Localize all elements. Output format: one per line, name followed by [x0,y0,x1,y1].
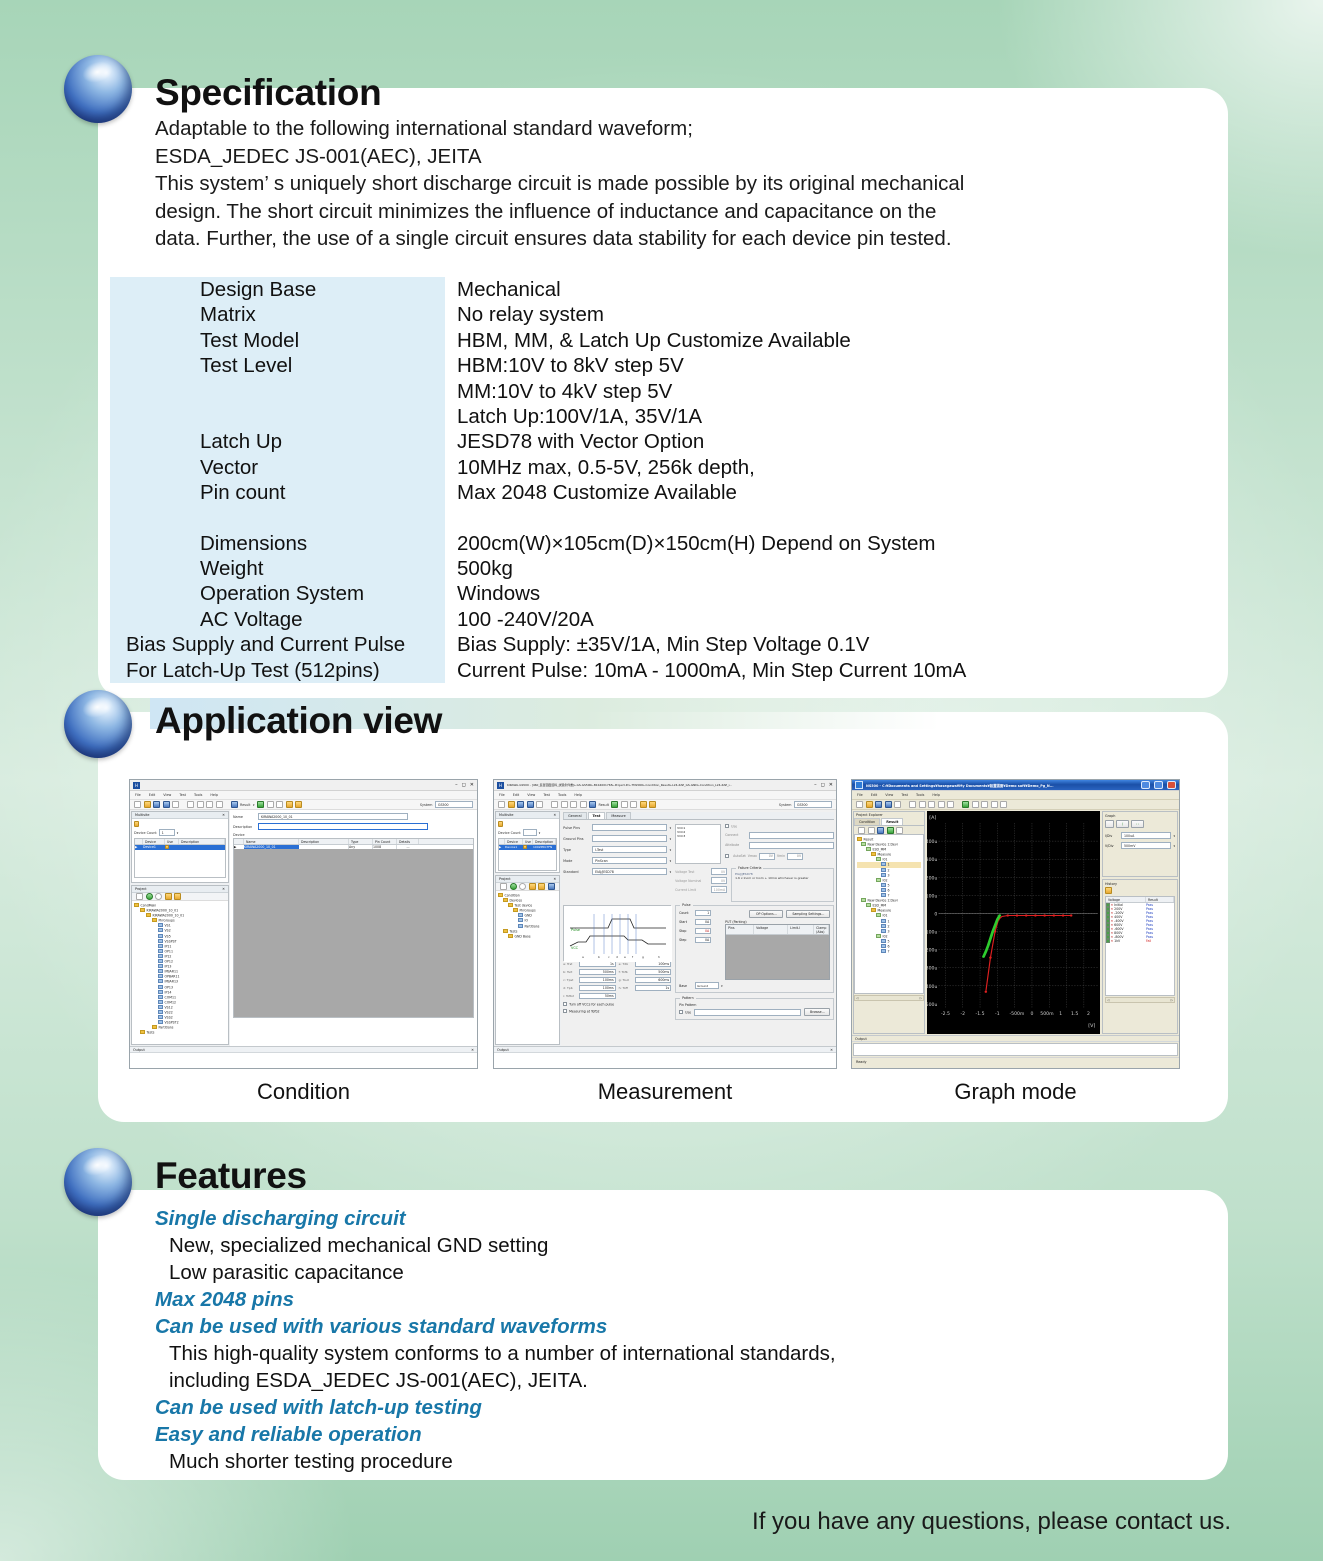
graph-plot[interactable]: [A] 400u300u200u 100u0-100u -200u-300u-4… [927,811,1100,1034]
menu-file[interactable]: File [857,793,863,797]
field-input[interactable]: I-Test [592,846,666,853]
feature-detail: including ESDA_JEDEC JS-001(AEC), JEITA. [155,1367,1115,1394]
grid-toggle-icon[interactable] [1105,820,1114,828]
measurement-menubar[interactable]: File Edit View Test Tools Help [494,791,836,800]
pin-icon[interactable] [498,821,503,827]
explorer-hscrollbar[interactable]: ◁▷ [854,995,924,1001]
time-field-input[interactable]: 600ms [635,977,672,983]
save-all-icon[interactable] [885,801,892,808]
view1-icon[interactable] [991,801,998,808]
project-pane: Project ✕ ConditionDevicesTest devicePin… [495,875,560,1045]
device-grid-row[interactable]: ▶ KIRAWA2000_10_01 Any 1008 ... [234,845,473,849]
pulse-field[interactable]: Count1 [679,910,721,916]
menu-tools[interactable]: Tools [558,793,566,797]
device-row[interactable]: ▶ Device1 [135,845,225,850]
window-controls[interactable]: – ◻ ✕ [814,783,833,788]
toolbar-result-label[interactable]: Result [599,803,609,807]
condition-toolbar[interactable]: Result ▾ System GS500 [130,800,477,810]
footer-contact-note: If you have any questions, please contac… [752,1508,1231,1536]
output-header: Output ✕ [130,1047,477,1053]
base-select[interactable]: Ground [695,982,719,989]
add-icon[interactable] [510,883,517,890]
tab-measure[interactable]: Measure [606,812,630,819]
expand-icon[interactable] [136,893,143,900]
specification-intro: Adaptable to the following international… [155,115,1155,253]
failure-criteria-label: Failure Criteria [736,866,763,870]
spec-row: Design BaseMechanical [110,277,1200,302]
menu-edit[interactable]: Edit [513,793,520,797]
svg-text:100u: 100u [927,894,938,900]
device-row[interactable]: ▶ Device1 1002PIN-TFN [499,845,556,850]
measurement-window[interactable]: H KIRAWA-GS500 - [460_装置図面資料_試験条件書]←GS-G… [493,779,837,1069]
time-field-input[interactable]: 100ms [579,985,616,991]
intro-line: This system’ s uniquely short discharge … [155,170,1155,198]
menu-tools[interactable]: Tools [194,793,202,797]
add-icon[interactable] [146,893,153,900]
close-icon[interactable]: ✕ [471,1048,474,1052]
pin-pattern-input[interactable] [694,1009,801,1016]
idiv-label: I/Div [1105,834,1119,838]
menu-tools[interactable]: Tools [916,793,924,797]
time-field-input[interactable]: 100ms [579,977,616,983]
time-field-label: g: Tout [619,978,634,982]
spec-row-label: Latch Up [110,429,445,454]
put-grid-header: Pins Voltage Limit-I Clamp (Abs) [726,925,829,935]
time-field[interactable]: i: Tofb250ms [563,993,616,999]
measurement-form[interactable]: Pulse Pins▾Ground Pins▾TypeI-Test▾ModePi… [563,824,671,902]
time-field-label: h: Toff [619,986,634,990]
close-icon[interactable]: ✕ [222,887,225,891]
refresh-icon[interactable] [887,827,894,834]
save-all-icon[interactable] [163,801,170,808]
new-icon[interactable] [856,801,863,808]
close-x-icon[interactable] [947,801,954,808]
search-icon[interactable] [231,801,238,808]
svg-text:a: a [582,955,584,959]
time-field[interactable]: d: Tpb100ms [563,985,616,991]
stop-icon[interactable] [276,801,283,808]
graph-statusbar: Ready [852,1057,1179,1066]
history-pane-title: History [1105,882,1175,886]
system-label: System [420,803,433,807]
page-title-features: Features [155,1155,307,1197]
time-field[interactable]: b: Tsrt500ms [563,969,616,975]
menu-test[interactable]: Test [901,793,908,797]
vdiv-select[interactable]: 500mV [1121,842,1171,849]
measurement-tabs[interactable]: General Test Measure [563,812,834,820]
find-icon[interactable] [548,883,555,890]
close-icon[interactable]: ✕ [830,1048,833,1052]
tree-item[interactable]: 7 [857,949,921,954]
tab-result[interactable]: Result [881,818,903,825]
svg-text:[A]: [A] [929,815,936,821]
minimize-icon[interactable]: – [814,783,817,788]
description-input[interactable] [258,823,428,830]
spec-row-label: Matrix [110,302,445,327]
grid-icon[interactable] [295,801,302,808]
form-row[interactable]: Ground Pins▾ [563,835,671,842]
paste-icon[interactable] [570,801,577,808]
close-icon[interactable]: ✕ [222,813,225,817]
svg-text:500m: 500m [1040,1011,1053,1017]
output-header: Output ✕ [494,1047,836,1053]
spec-row-label: AC Voltage [110,607,445,632]
measurement-toolbar[interactable]: Result System GS500 [494,800,836,810]
vmin-label: Vmin [777,854,785,858]
grid-icon[interactable] [649,801,656,808]
voltage-nominal-input[interactable]: 0V [711,877,727,884]
condition-menubar[interactable]: File Edit View Test Tools Help [130,791,477,800]
spec-row: AC Voltage100 -240V/20A [110,607,1200,632]
spec-bias-label: For Latch-Up Test (512pins) [110,658,445,683]
menu-edit[interactable]: Edit [149,793,156,797]
close-icon[interactable]: ✕ [470,783,474,788]
connect-select[interactable] [749,832,834,839]
attribute-label: Attribute [725,843,747,847]
stop-icon[interactable] [630,801,637,808]
print-icon[interactable] [172,801,179,808]
minimize-icon[interactable]: – [455,783,458,788]
base-label: Base [679,984,693,988]
description-label: Description [233,825,255,829]
pulse-field-input[interactable]: 0A [695,928,711,934]
pin-list[interactable]: VCC1 VCC2 VCC3 [675,824,721,864]
chevron-down-icon[interactable]: ▾ [177,831,179,835]
project-header: Project ✕ [132,886,228,893]
condition-window[interactable]: H – ◻ ✕ File Edit View Test Tools Help [129,779,478,1069]
pulse-field-label: Start [679,920,693,924]
pulse-field-input[interactable]: 0A [695,919,711,925]
project-tree[interactable]: ConditionDevicesTest devicePinGroupsGNDI… [496,891,559,941]
pulse-field[interactable]: Start0A [679,919,721,925]
output-title: Output [855,1037,867,1041]
copy-icon[interactable] [919,801,926,808]
field-input[interactable] [592,824,666,831]
window-controls[interactable] [1141,781,1176,789]
caption-condition: Condition [129,1079,478,1105]
find-icon[interactable] [877,827,884,834]
explorer-tabs[interactable]: Condition Result [854,818,924,826]
run-icon[interactable] [611,801,618,808]
graph-toolbar[interactable] [852,800,1179,810]
history-hscrollbar[interactable]: ◁▷ [1105,997,1175,1003]
features-bullet-icon [64,1148,132,1216]
pin-item[interactable]: VCC3 [677,834,719,838]
chevron-down-icon[interactable]: ▾ [1173,844,1175,848]
vmax-input[interactable]: 0V [759,853,775,860]
copy-icon[interactable] [561,801,568,808]
spec-row-value: HBM, MM, & Latch Up Customize Available [445,328,1200,353]
menu-file[interactable]: File [499,793,505,797]
pulse-field-label: Step [679,938,693,942]
field-input[interactable]: EIAJ/JESD78 [592,868,666,875]
time-field-input[interactable]: 50ms [579,993,616,999]
use-checkbox[interactable]: Use [725,824,834,829]
name-input[interactable]: KIRAWA2000_10_01 [258,813,408,820]
pulse-field-input[interactable]: 0A [695,937,711,943]
field-label: Type [563,848,589,852]
output-header: Output [852,1036,1179,1042]
chevron-down-icon[interactable]: ▾ [539,831,541,835]
svg-text:d: d [616,955,618,959]
pause-icon[interactable] [972,801,979,808]
pin-pattern-use-checkbox[interactable]: Use [679,1010,691,1015]
toolbar-result-label[interactable]: Result [240,803,250,807]
pulse-fields[interactable]: Count1Start0AStop0AStep0A [679,910,721,980]
chevron-down-icon[interactable]: ▾ [670,826,672,830]
history-row[interactable]: ✕1kVFail [1106,939,1174,943]
menu-test[interactable]: Test [543,793,550,797]
feature-heading: Can be used with latch-up testing [155,1394,1115,1421]
maximize-icon[interactable]: ◻ [462,783,466,788]
save-all-icon[interactable] [527,801,534,808]
vmin-input[interactable]: 0V [787,853,803,860]
tab-general[interactable]: General [563,812,586,819]
open-icon[interactable] [866,801,873,808]
spec-row-value: Mechanical [445,277,1200,302]
svg-text:1.5: 1.5 [1071,1011,1079,1017]
svg-text:0: 0 [934,912,937,918]
collapse-icon[interactable] [868,827,875,834]
system-select[interactable]: GS500 [794,801,832,808]
menu-test[interactable]: Test [179,793,186,797]
device-count-input[interactable]: 1 [159,829,175,836]
form-row[interactable]: Pulse Pins▾ [563,824,671,831]
close-icon[interactable]: ✕ [829,783,833,788]
close-icon[interactable]: ✕ [553,813,556,817]
menu-file[interactable]: File [135,793,141,797]
spec-bias-row: Bias Supply and Current PulseBias Supply… [110,632,1200,657]
cut-icon[interactable] [187,801,194,808]
multisite-header: Multisite ✕ [496,812,559,819]
current-limit-label: Current Limit [675,888,710,892]
tree-item[interactable]: Tests [134,1030,226,1035]
window-controls[interactable]: – ◻ ✕ [455,783,474,788]
pause-icon[interactable] [621,801,628,808]
measurement-title: KIRAWA-GS500 - [460_装置図面資料_試験条件書]←GS-GS5… [507,783,811,787]
pause-icon[interactable] [267,801,274,808]
spec-row: Pin countMax 2048 Customize Available [110,480,1200,505]
spec-row-value: No relay system [445,302,1200,327]
properties-icon[interactable] [896,827,903,834]
chevron-down-icon[interactable]: ▾ [721,984,723,988]
app-logo-icon: H [133,782,140,789]
system-label: System [779,803,792,807]
tab-test[interactable]: Test [588,812,606,819]
expand-icon[interactable] [858,827,865,834]
close-icon[interactable]: ✕ [553,877,556,881]
graph-menubar[interactable]: File Edit View Test Tools Help [852,791,1179,800]
spec-bias-label: Bias Supply and Current Pulse [110,632,445,657]
device-group-label: Device [233,833,474,837]
voltage-nominal-label: Voltage Nominal [675,879,710,883]
spec-row-value: Max 2048 Customize Available [445,480,1200,505]
lock-icon[interactable] [640,801,647,808]
history-list[interactable]: ✕InitialPass✕200VPass✕-200VPass✕400VPass… [1106,903,1174,943]
spec-row-label: Test Model [110,328,445,353]
field-input[interactable]: PinScan [592,857,666,864]
spec-row: Weight500kg [110,556,1200,581]
copy-icon[interactable] [197,801,204,808]
expand-icon[interactable] [500,883,507,890]
measuring-at-tofb2-checkbox[interactable]: Measuring at Tofb2 [563,1009,671,1014]
spec-row: MatrixNo relay system [110,302,1200,327]
chevron-down-icon[interactable]: ▾ [670,848,672,852]
print-icon[interactable] [894,801,901,808]
menu-edit[interactable]: Edit [871,793,878,797]
multisite-pane: Multisite ✕ Device Count 1 ▾ [131,811,229,883]
run-icon[interactable] [962,801,969,808]
spec-row: MM:10V to 4kV step 5V [110,379,1200,404]
remove-icon[interactable] [519,883,526,890]
voltage-test-input[interactable]: 0V [711,868,727,875]
open-folder-icon[interactable] [174,893,181,900]
output-pane: Output ✕ [494,1046,836,1069]
name-label: Name [233,815,255,819]
maximize-icon[interactable]: ◻ [821,783,825,788]
menu-help[interactable]: Help [574,793,582,797]
attribute-select[interactable] [749,842,834,849]
time-field[interactable]: h: Toff1s [619,985,672,991]
form-row[interactable]: ModePinScan▾ [563,857,671,864]
lock-icon[interactable] [286,801,293,808]
form-row[interactable]: TypeI-Test▾ [563,846,671,853]
maximize-icon[interactable] [1154,781,1163,789]
time-field-label: c: Tpst [563,978,578,982]
edit-icon[interactable] [165,893,172,900]
pin-icon[interactable] [134,821,139,827]
current-limit-input[interactable]: 100mA [711,886,727,893]
time-field-label: i: Tofb2 [563,994,578,998]
graph-canvas[interactable]: [A] 400u300u200u 100u0-100u -200u-300u-4… [927,811,1100,1034]
autoset-checkbox[interactable] [725,854,729,858]
history-voltage: ✕1kV [1106,939,1146,943]
col-device: Device [143,839,165,844]
svg-text:-500u: -500u [927,1002,938,1008]
minimize-icon[interactable] [1141,781,1150,789]
view2-icon[interactable] [1000,801,1007,808]
save-icon[interactable] [875,801,882,808]
form-row[interactable]: StandardEIAJ/JESD78▾ [563,868,671,875]
menu-help[interactable]: Help [932,793,940,797]
stop-icon[interactable] [981,801,988,808]
feature-detail: Much shorter testing procedure [155,1448,1115,1475]
open-icon[interactable] [508,801,515,808]
chevron-down-icon[interactable]: ▾ [670,859,672,863]
time-field[interactable]: c: Tpst100ms [563,977,616,983]
cut-icon[interactable] [551,801,558,808]
sampling-settings-button[interactable]: Sampling Settings... [786,910,830,918]
chevron-down-icon[interactable]: ▾ [1173,834,1175,838]
failure-criteria-text: 1.6 x Inom or Inom + 10mA whichever is g… [735,876,830,880]
pulse-field[interactable]: Stop0A [679,928,721,934]
browse-button[interactable]: Browse... [804,1008,830,1016]
pulse-field-input[interactable]: 1 [695,910,711,916]
intro-line: data. Further, the use of a single circu… [155,225,1155,253]
save-icon[interactable] [517,801,524,808]
run-icon[interactable] [257,801,264,808]
print-icon[interactable] [536,801,543,808]
new-icon[interactable] [498,801,505,808]
close-icon[interactable] [1167,781,1176,789]
chevron-down-icon[interactable]: ▾ [670,837,672,841]
page-title-specification: Specification [155,72,381,114]
time-field[interactable]: g: Tout600ms [619,977,672,983]
chevron-down-icon[interactable]: ▾ [670,870,672,874]
graph-window[interactable]: NS500 - C:¥Documents and Settings¥hasega… [851,779,1180,1069]
scatter-mode-icon[interactable]: ∷ [1131,820,1144,828]
menu-view[interactable]: View [163,793,171,797]
time-field-input[interactable]: 500ms [635,969,672,975]
time-field-grid[interactable]: a: Trst1se: Tdb100msb: Tsrt500msf: Tofb5… [563,961,671,999]
graph-titlebar: NS500 - C:¥Documents and Settings¥hasega… [852,780,1179,791]
chevron-down-icon[interactable]: ▾ [253,803,255,807]
new-icon[interactable] [134,801,141,808]
pulse-field[interactable]: Step0A [679,937,721,943]
multisite-pane: Multisite ✕ Device Count ▾ [495,811,560,873]
edit-icon[interactable] [529,883,536,890]
menu-help[interactable]: Help [210,793,218,797]
turn-off-vcc-checkbox[interactable]: Turn off VCCs for each pulse [563,1002,671,1007]
field-label: Pulse Pins [563,826,589,830]
time-field-input[interactable]: 500ms [579,969,616,975]
line-mode-icon[interactable]: / [1116,820,1129,828]
tab-condition[interactable]: Condition [854,818,880,825]
paste-icon[interactable] [206,801,213,808]
vmax-label: Vmax [748,854,757,858]
svg-text:-500m: -500m [1009,1011,1024,1017]
tree-item[interactable]: GND Base [498,934,557,939]
paste-icon[interactable] [928,801,935,808]
intro-line: ESDA_JEDEC JS-001(AEC), JEITA [155,143,1155,171]
open-folder-icon[interactable] [538,883,545,890]
history-export-icon[interactable] [1105,887,1112,894]
menu-view[interactable]: View [527,793,535,797]
time-field-input[interactable]: 1s [635,985,672,991]
col-type: Type [349,839,373,844]
project-toolbar[interactable] [132,893,228,901]
op-options-button[interactable]: OP Options... [749,910,783,918]
svg-text:400u: 400u [927,839,938,845]
idiv-select[interactable]: 100uA [1121,832,1171,839]
save-icon[interactable] [153,801,160,808]
feature-heading: Can be used with various standard wavefo… [155,1313,1115,1340]
cut-icon[interactable] [909,801,916,808]
time-field-label: b: Tsrt [563,970,578,974]
result-tree[interactable]: ResultNew Device 1:DeviESD_MMMeasureI011… [854,834,924,994]
open-icon[interactable] [144,801,151,808]
remove-icon[interactable] [155,893,162,900]
delete-icon[interactable] [580,801,587,808]
delete-icon[interactable] [938,801,945,808]
field-input[interactable] [592,835,666,842]
delete-icon[interactable] [216,801,223,808]
explorer-toolbar[interactable] [854,826,924,834]
svg-text:-2: -2 [960,1011,965,1017]
project-toolbar[interactable] [496,883,559,891]
multisite-title: Multisite [135,813,149,817]
pulse-group-label: Pulse [680,903,692,907]
spec-row-value: Windows [445,581,1200,606]
page-title-application-view: Application view [155,700,442,742]
menu-view[interactable]: View [885,793,893,797]
measurement-titlebar: H KIRAWA-GS500 - [460_装置図面資料_試験条件書]←GS-G… [494,780,836,791]
time-field[interactable]: f: Tofb500ms [619,969,672,975]
project-tree[interactable]: CondMainKIRAWA2000_10_01KIRAWA2000_10_01… [132,901,228,1037]
system-select[interactable]: GS500 [435,801,473,808]
search-icon[interactable] [589,801,596,808]
device-count-input[interactable] [523,829,537,836]
